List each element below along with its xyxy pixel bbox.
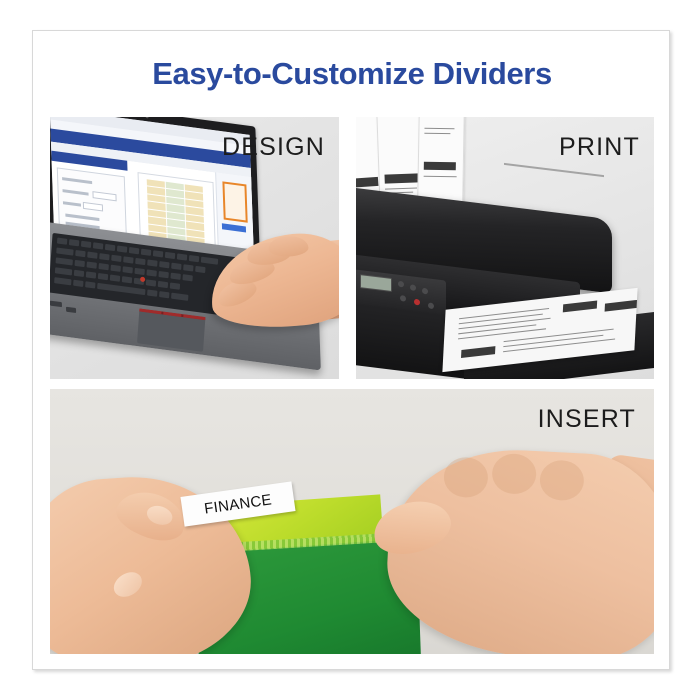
key bbox=[81, 241, 91, 248]
key bbox=[165, 252, 175, 259]
webcam-icon bbox=[145, 117, 148, 119]
laptop-port bbox=[50, 301, 62, 308]
form-heading-line bbox=[62, 177, 92, 184]
key bbox=[158, 281, 168, 288]
key bbox=[182, 274, 192, 281]
panel-insert: FINANCE INSERT bbox=[50, 389, 654, 654]
key bbox=[170, 273, 180, 280]
key bbox=[55, 267, 72, 275]
printer-button bbox=[400, 295, 406, 302]
form-label-line bbox=[65, 214, 99, 222]
printer-lcd-display bbox=[360, 274, 392, 292]
panel-print: PRINT bbox=[356, 117, 654, 379]
key bbox=[110, 275, 120, 282]
paper-print-line bbox=[424, 176, 457, 178]
key bbox=[117, 245, 127, 252]
key bbox=[177, 253, 187, 260]
form-input-1 bbox=[92, 191, 116, 201]
key bbox=[122, 266, 132, 273]
key bbox=[110, 265, 120, 272]
key bbox=[87, 252, 97, 259]
knuckle bbox=[443, 456, 489, 498]
fingernail bbox=[145, 503, 175, 528]
printer-illustration bbox=[356, 127, 654, 379]
key bbox=[122, 276, 132, 283]
paper-print-line bbox=[424, 128, 454, 130]
sheet-print-block bbox=[605, 300, 637, 312]
form-input-2 bbox=[83, 202, 103, 212]
finger bbox=[268, 236, 309, 257]
knuckle bbox=[491, 453, 537, 495]
key bbox=[171, 293, 188, 301]
spacebar-key bbox=[97, 283, 145, 295]
trackpad-right-button bbox=[183, 314, 205, 320]
key bbox=[183, 264, 193, 271]
key bbox=[75, 250, 85, 257]
key bbox=[153, 250, 163, 257]
paper-print-line bbox=[424, 133, 450, 134]
key bbox=[111, 255, 121, 262]
key bbox=[56, 247, 73, 255]
key bbox=[141, 249, 151, 256]
key bbox=[189, 255, 199, 262]
printer-lid-seam bbox=[504, 163, 604, 177]
key bbox=[99, 253, 109, 260]
key bbox=[159, 291, 169, 298]
printer-button bbox=[422, 288, 428, 295]
key bbox=[170, 282, 180, 289]
panel-label-print: PRINT bbox=[559, 133, 640, 162]
key bbox=[86, 271, 96, 278]
key bbox=[146, 279, 156, 286]
key bbox=[147, 289, 157, 296]
key bbox=[147, 259, 157, 266]
key bbox=[75, 260, 85, 267]
key bbox=[86, 261, 96, 268]
key bbox=[98, 273, 108, 280]
key bbox=[129, 247, 139, 254]
paper-label-text: FINANCE bbox=[203, 491, 273, 517]
key bbox=[135, 258, 145, 265]
key bbox=[158, 271, 168, 278]
panel-label-insert: INSERT bbox=[538, 405, 636, 434]
knuckle bbox=[539, 459, 585, 501]
laptop-port bbox=[66, 307, 76, 313]
paper-print-block bbox=[424, 162, 456, 171]
paper-print-block bbox=[356, 177, 378, 188]
panel-label-design: DESIGN bbox=[222, 133, 325, 162]
trackpad-middle-button bbox=[163, 312, 181, 317]
rail-blue-button bbox=[222, 223, 246, 232]
thumb bbox=[111, 484, 191, 547]
selected-tab-outline bbox=[222, 181, 247, 222]
form-label-line bbox=[63, 189, 89, 195]
key bbox=[134, 268, 144, 275]
screenshot-root: Easy-to-Customize Dividers bbox=[0, 0, 700, 700]
key bbox=[69, 239, 79, 246]
form-label-line bbox=[63, 201, 81, 206]
fingernail bbox=[109, 567, 146, 602]
printer-button bbox=[428, 302, 434, 309]
sheet-print-block bbox=[563, 300, 597, 312]
key bbox=[56, 257, 73, 265]
key bbox=[57, 238, 67, 245]
key bbox=[159, 261, 169, 268]
right-hand bbox=[383, 444, 654, 654]
key bbox=[74, 270, 84, 277]
key bbox=[146, 269, 156, 276]
paper-print-block bbox=[384, 173, 418, 183]
printer-power-button bbox=[414, 299, 420, 306]
key bbox=[171, 263, 181, 270]
panel-design: DESIGN bbox=[50, 117, 339, 379]
key bbox=[98, 263, 108, 270]
key bbox=[123, 256, 133, 263]
product-card: Easy-to-Customize Dividers bbox=[32, 30, 670, 670]
key bbox=[105, 244, 115, 251]
printer-button bbox=[410, 284, 416, 291]
printer-button bbox=[398, 281, 404, 288]
trackpad-left-button bbox=[139, 308, 161, 314]
page-title: Easy-to-Customize Dividers bbox=[33, 56, 671, 92]
key bbox=[93, 242, 103, 249]
key bbox=[201, 257, 218, 265]
key bbox=[54, 277, 71, 285]
laptop-trackpad bbox=[137, 308, 205, 351]
key bbox=[85, 281, 95, 288]
paper-print-line bbox=[385, 187, 417, 189]
key bbox=[73, 280, 83, 287]
sheet-print-block bbox=[461, 346, 495, 358]
key bbox=[195, 266, 205, 273]
